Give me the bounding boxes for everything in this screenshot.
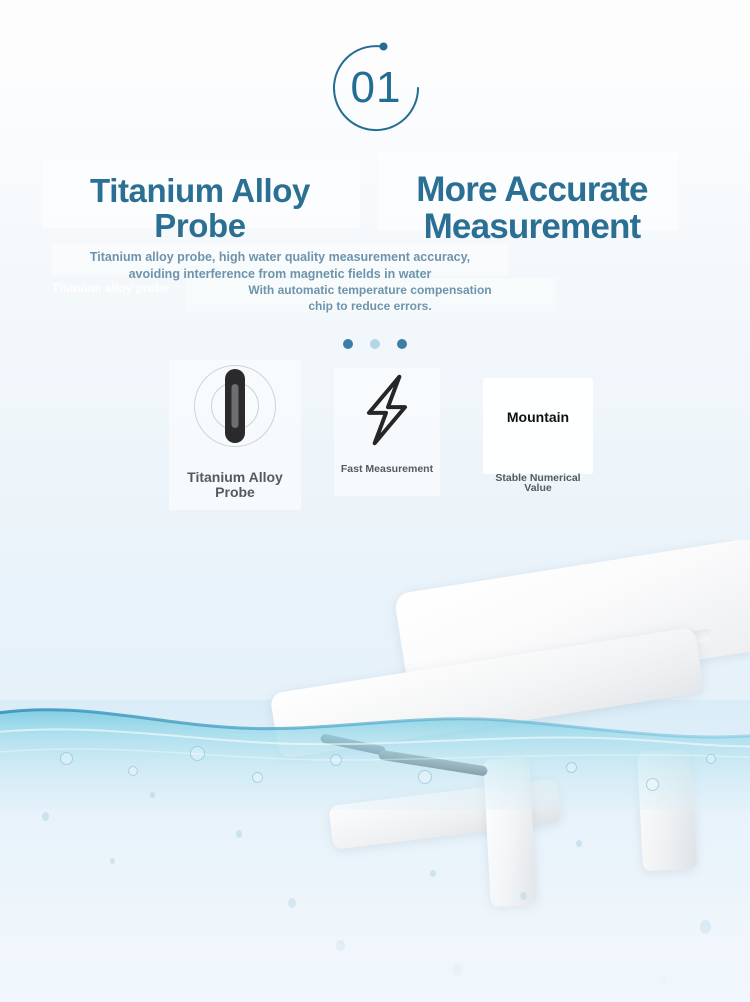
feature-caption: Titanium Alloy Probe: [160, 470, 310, 501]
bubble: [646, 778, 659, 791]
carousel-dots[interactable]: [343, 336, 407, 352]
step-badge: 01: [330, 42, 422, 134]
feature-list: Titanium Alloy Probe Fast Measurement Mo…: [0, 360, 750, 510]
water-droplet: [576, 840, 582, 847]
bubble: [60, 752, 73, 765]
bubble: [252, 772, 263, 783]
feature-caption: Stable Numerical Value: [480, 474, 596, 494]
feature-icon-wrap: [332, 368, 442, 452]
feature-item-titanium-alloy-probe[interactable]: Titanium Alloy Probe: [160, 360, 310, 501]
feature-caption: Fast Measurement: [332, 464, 442, 476]
carousel-dot-1[interactable]: [343, 339, 353, 349]
bubble: [128, 766, 138, 776]
carousel-dot-3[interactable]: [397, 339, 407, 349]
probe-stripe: [232, 384, 239, 428]
broken-image-placeholder-icon: Mountain: [480, 378, 596, 456]
bubble: [190, 746, 205, 761]
bubble: [418, 770, 432, 784]
feature-item-fast-measurement[interactable]: Fast Measurement: [332, 368, 442, 476]
probe-icon: [193, 364, 277, 448]
water-droplet: [430, 870, 436, 877]
feature-banner-page: 01 Titanium Alloy Probe More Accurate Me…: [0, 0, 750, 1002]
heading-left: Titanium Alloy Probe: [40, 174, 360, 243]
background-bottom-fade: [0, 882, 750, 1002]
carousel-dot-2[interactable]: [370, 339, 380, 349]
bubble: [330, 754, 342, 766]
water-droplet: [150, 792, 155, 798]
water-surface: [0, 690, 750, 810]
subtext-secondary: With automatic temperature compensation …: [180, 282, 560, 314]
feature-item-stable-numerical-value[interactable]: Mountain Stable Numerical Value: [480, 378, 596, 494]
heading-right: More Accurate Measurement: [382, 172, 682, 246]
step-badge-number: 01: [330, 42, 422, 134]
water-droplet: [42, 812, 49, 821]
probe-body: [225, 369, 245, 443]
water-wave-shape: [0, 690, 750, 810]
water-droplet: [110, 858, 115, 864]
bubble: [706, 754, 716, 764]
lightning-bolt-icon: [356, 373, 418, 447]
bubble: [566, 762, 577, 773]
water-droplet: [236, 830, 242, 838]
feature-icon-wrap: [160, 360, 310, 452]
subtext-primary: Titanium alloy probe, high water quality…: [50, 249, 510, 283]
